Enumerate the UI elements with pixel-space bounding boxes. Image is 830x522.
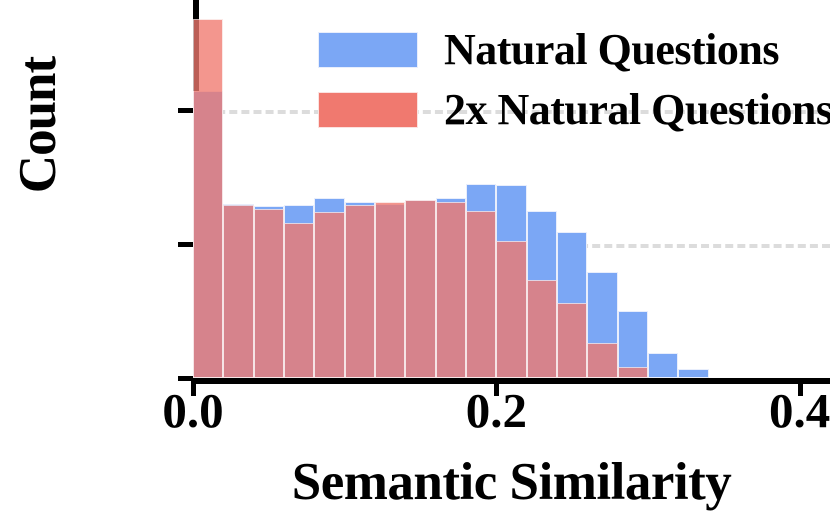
histogram-bar	[284, 223, 314, 378]
histogram-bar	[436, 202, 466, 378]
chart-legend: Natural Questions 2x Natural Questions	[318, 28, 830, 148]
histogram-bar	[678, 369, 708, 378]
histogram-bar	[557, 303, 587, 378]
histogram-bar	[193, 19, 223, 378]
legend-item-natural-questions: Natural Questions	[318, 28, 830, 72]
histogram-bar	[466, 211, 496, 379]
legend-label-2x-natural-questions: 2x Natural Questions	[444, 88, 830, 132]
histogram-figure: Count Semantic Similarity 050010000.00.2…	[0, 0, 830, 522]
histogram-bar	[254, 209, 284, 378]
histogram-bar	[527, 280, 557, 378]
legend-label-natural-questions: Natural Questions	[444, 28, 779, 72]
histogram-bar	[496, 241, 526, 378]
x-tick-label: 0.0	[162, 386, 223, 435]
histogram-bar	[345, 205, 375, 378]
histogram-bar	[587, 343, 617, 378]
legend-item-2x-natural-questions: 2x Natural Questions	[318, 88, 830, 132]
histogram-bar	[314, 212, 344, 378]
histogram-bar	[618, 367, 648, 378]
histogram-bar	[405, 200, 435, 378]
histogram-bar	[375, 202, 405, 378]
histogram-bar	[648, 353, 678, 378]
legend-swatch-blue	[318, 32, 418, 68]
x-tick-label: 0.4	[769, 386, 830, 435]
y-axis-label: Count	[8, 25, 68, 225]
histogram-bar	[223, 205, 253, 378]
x-axis-label: Semantic Similarity	[193, 452, 830, 512]
legend-swatch-red	[318, 92, 418, 128]
x-tick-label: 0.2	[466, 386, 527, 435]
